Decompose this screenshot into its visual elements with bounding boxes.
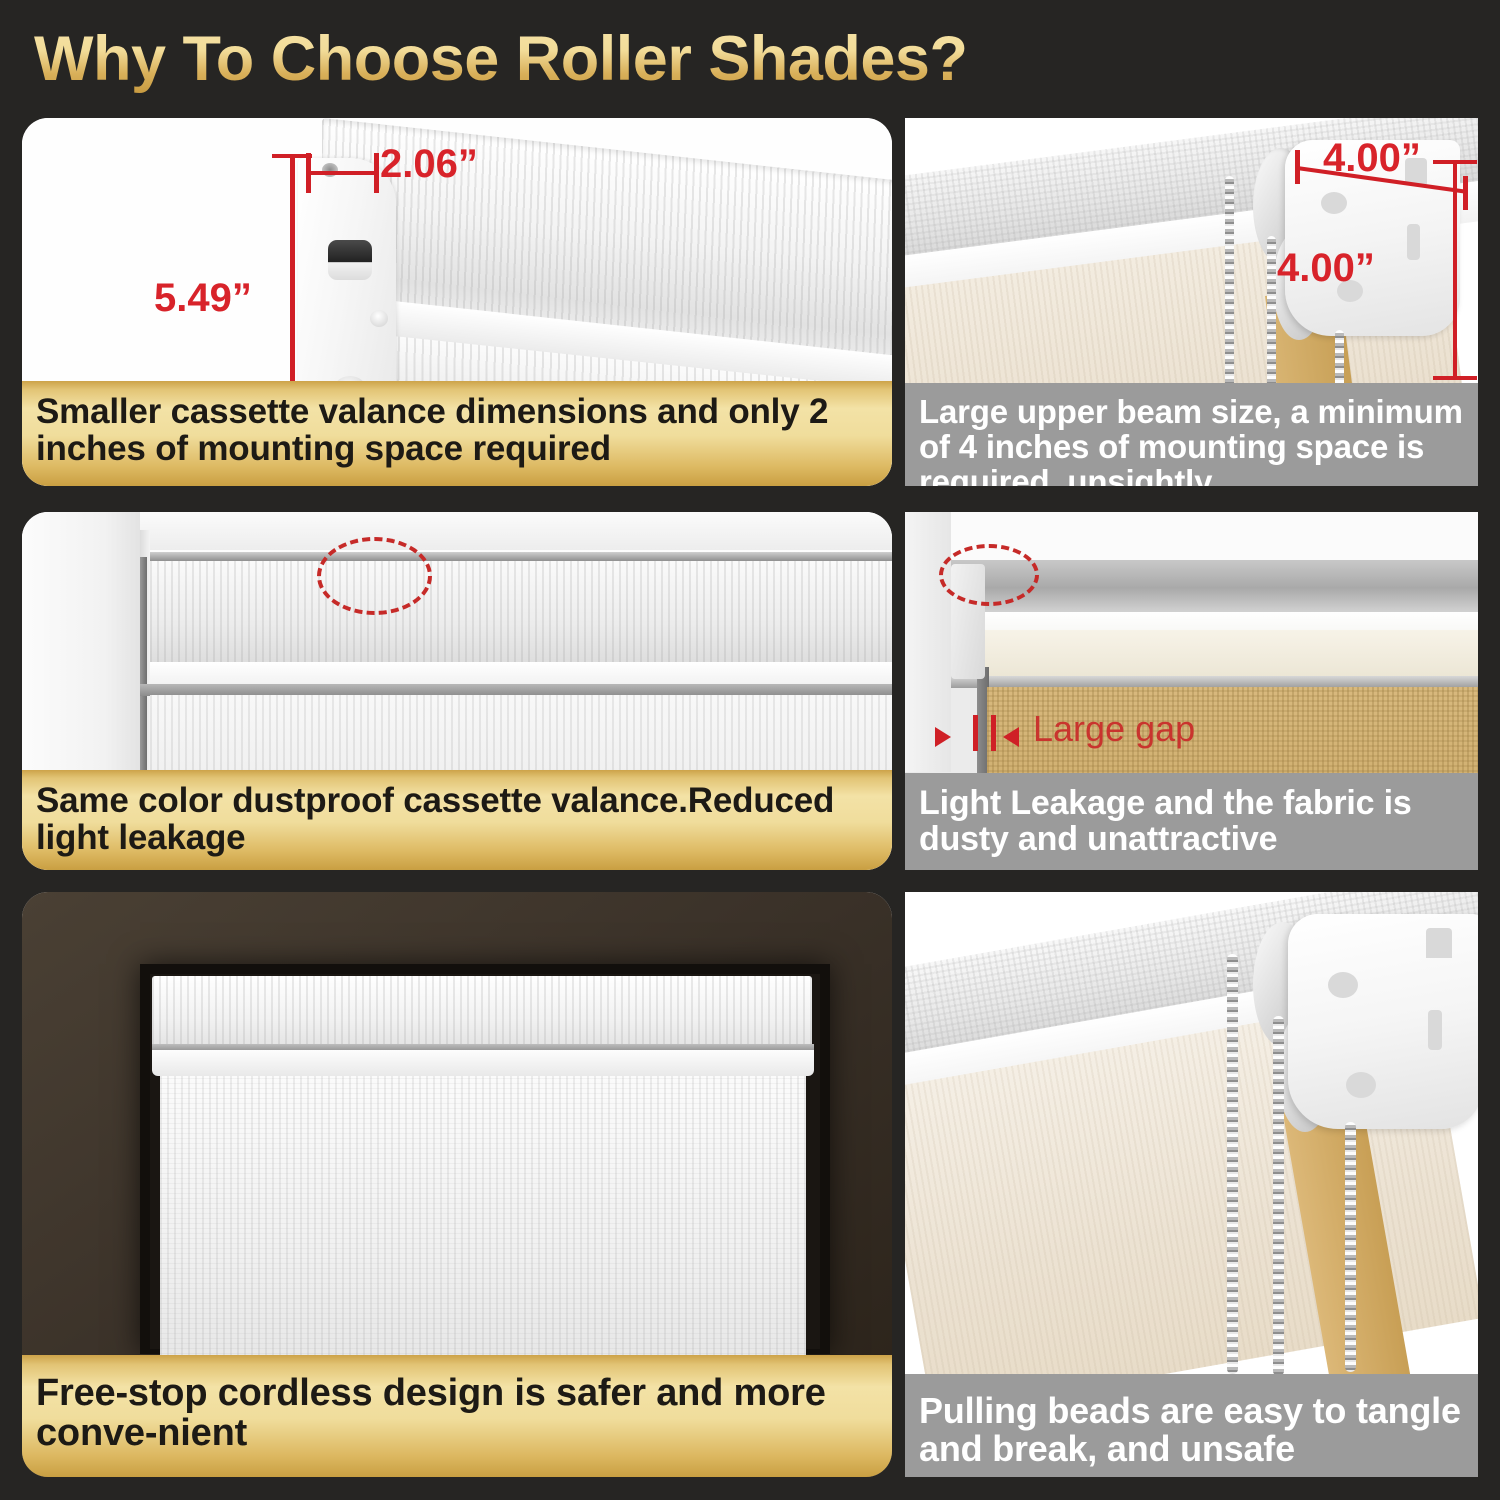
panel-4-caption: Light Leakage and the fabric is dusty an… bbox=[905, 773, 1478, 870]
panel-3-caption: Same color dustproof cassette valance.Re… bbox=[22, 770, 892, 870]
beam-height-tick-top bbox=[1433, 160, 1477, 164]
panel-1-caption: Smaller cassette valance dimensions and … bbox=[22, 381, 892, 486]
panel-bad-light-leakage: Large gap Light Leakage and the fabric i… bbox=[905, 512, 1478, 870]
roller-beam-cream bbox=[951, 630, 1478, 678]
bracket-notch-mid bbox=[1428, 1010, 1442, 1050]
bead-chain-right bbox=[1345, 1122, 1356, 1372]
gap-tick-right bbox=[991, 715, 996, 751]
bracket-logo-upper bbox=[1321, 192, 1347, 214]
width-dim-line bbox=[308, 171, 378, 175]
width-dimension-label: 2.06” bbox=[380, 142, 478, 187]
highlight-circle-icon bbox=[939, 544, 1039, 606]
bead-chain-left bbox=[1227, 954, 1238, 1374]
panel-bad-beaded-chain: Pulling beads are easy to tangle and bre… bbox=[905, 892, 1478, 1477]
highlight-circle-icon bbox=[317, 537, 432, 615]
cassette-valance-lip bbox=[152, 1050, 814, 1076]
beam-width-label: 4.00” bbox=[1323, 136, 1421, 181]
bracket-notch-top bbox=[1426, 928, 1452, 958]
end-cap-slot bbox=[328, 240, 372, 280]
valance-fabric-band bbox=[150, 561, 892, 666]
bracket-logo-lower bbox=[1346, 1072, 1376, 1098]
bracket-notch-mid bbox=[1407, 224, 1420, 260]
mounting-bracket bbox=[1288, 914, 1478, 1129]
gap-tick-left bbox=[973, 715, 978, 751]
panel-6-caption: Pulling beads are easy to tangle and bre… bbox=[905, 1374, 1478, 1477]
bracket-logo-upper bbox=[1328, 972, 1358, 998]
window-header-trim bbox=[127, 512, 892, 550]
window-side-jamb bbox=[22, 512, 140, 772]
large-gap-label: Large gap bbox=[1033, 708, 1195, 750]
panel-5-caption: Free-stop cordless design is safer and m… bbox=[22, 1355, 892, 1477]
end-cap-screw-upper bbox=[370, 310, 388, 327]
height-dimension-label: 5.49” bbox=[154, 276, 252, 321]
valance-top-rail bbox=[150, 552, 892, 561]
page-title: Why To Choose Roller Shades? bbox=[34, 18, 1134, 100]
panel-good-cassette-size: 2.06” 5.49” Smaller cassette valance dim… bbox=[22, 118, 892, 486]
beam-height-label: 4.00” bbox=[1277, 246, 1375, 291]
panel-good-cordless: Free-stop cordless design is safer and m… bbox=[22, 892, 892, 1477]
page-title-text: Why To Choose Roller Shades? bbox=[34, 23, 967, 95]
cassette-valance-head bbox=[152, 976, 812, 1050]
panel-good-dustproof-valance: smaller gap Same color dustproof cassett… bbox=[22, 512, 892, 870]
panel-2-caption: Large upper beam size, a minimum of 4 in… bbox=[905, 383, 1478, 486]
height-dim-tick-top bbox=[272, 154, 312, 158]
beam-height-line bbox=[1453, 160, 1457, 380]
bead-chain-middle bbox=[1273, 1016, 1284, 1376]
panel-bad-beam-size: 4.00” 4.00” Large upper beam size, a min… bbox=[905, 118, 1478, 486]
beam-height-tick-bottom bbox=[1433, 376, 1477, 380]
shade-fabric bbox=[160, 1074, 806, 1374]
